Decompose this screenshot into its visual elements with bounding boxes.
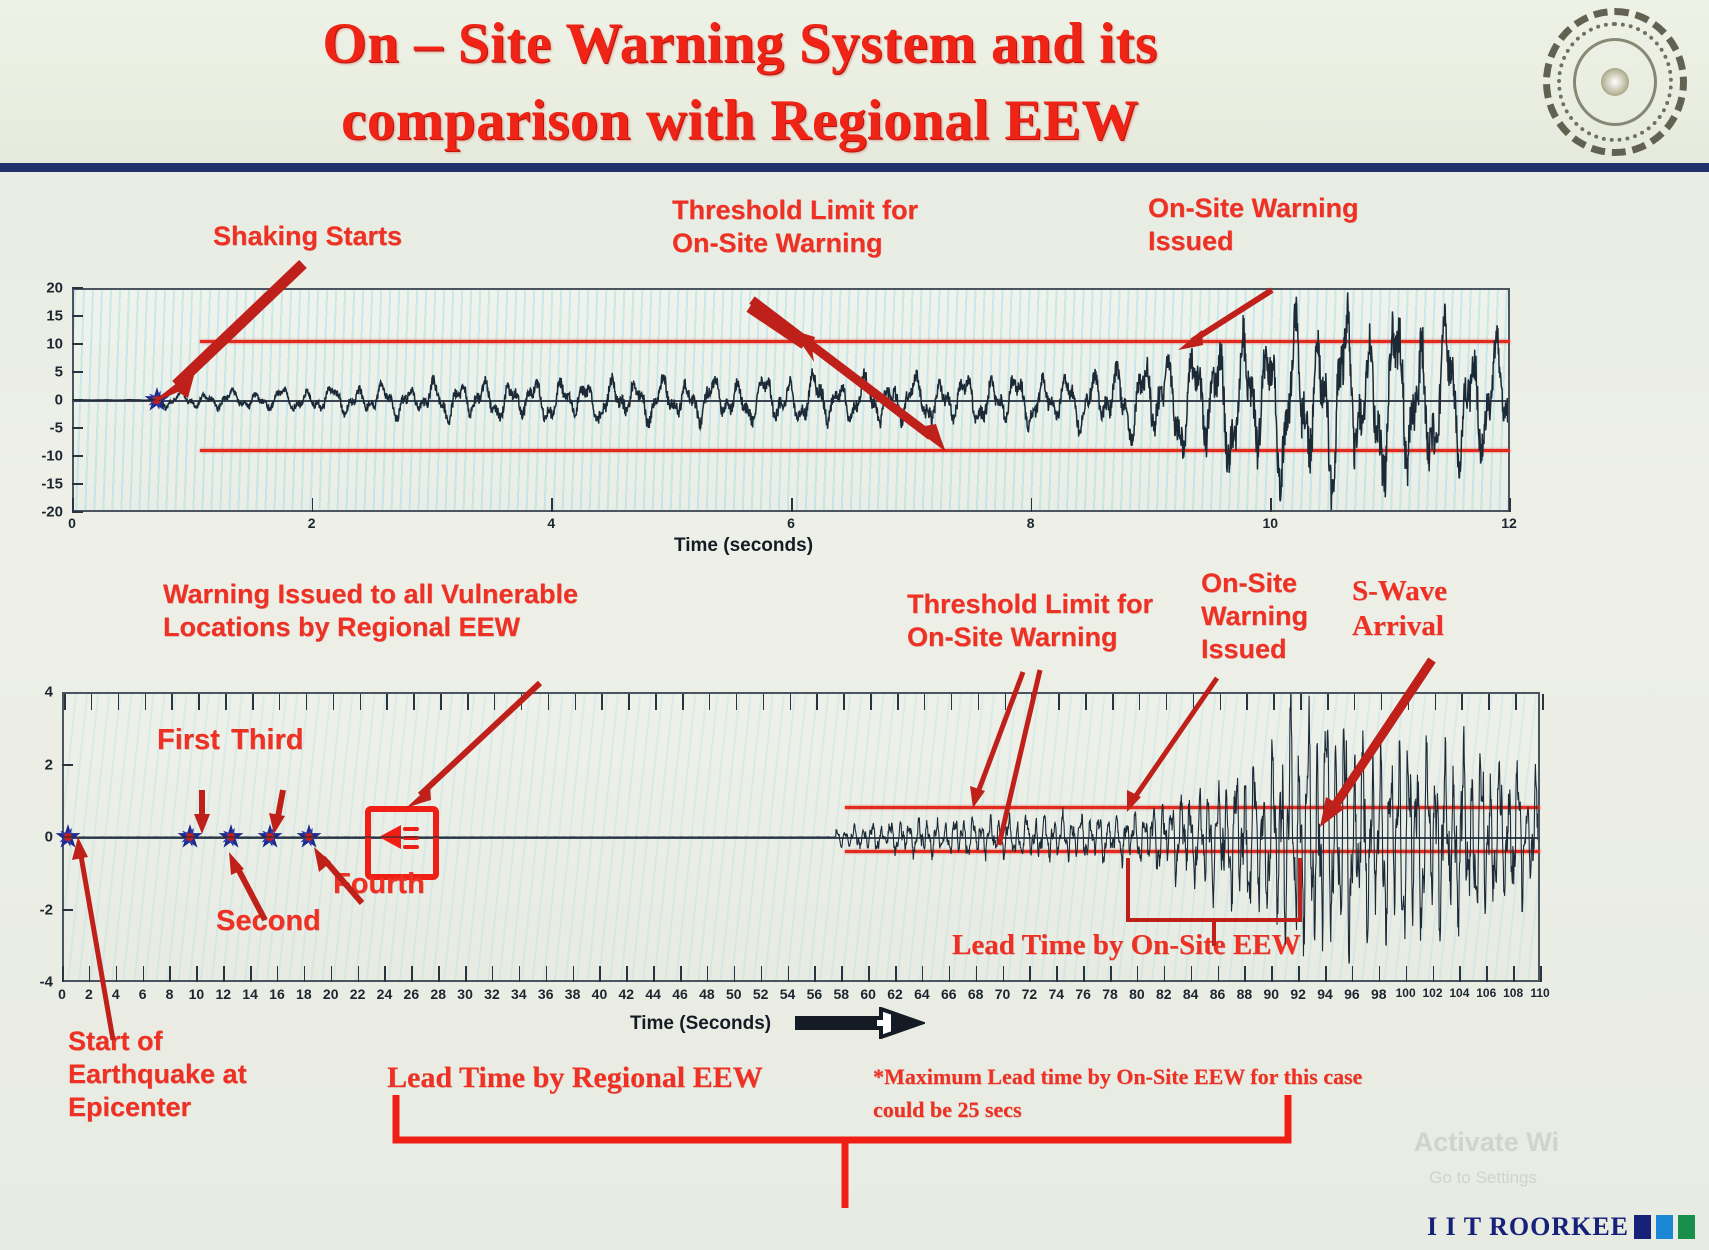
x-tick-mark-top: [1381, 694, 1383, 710]
annotation-start-of-earthquake: Start of Earthquake at Epicenter: [68, 1025, 247, 1124]
x-tick-mark-top: [1220, 694, 1222, 710]
annotation-regional-warning-issued: Warning Issued to all Vulnerable Locatio…: [163, 578, 578, 644]
annotation-lead-time-on-site: Lead Time by On-Site EEW: [952, 928, 1301, 963]
brand-text: I I T ROORKEE: [1427, 1212, 1629, 1242]
x-tick-mark: [1540, 966, 1542, 982]
x-tick-label: 12: [215, 986, 231, 1002]
x-tick-mark: [1137, 966, 1139, 982]
x-tick-mark: [196, 966, 198, 982]
x-tick-label: 88: [1237, 986, 1253, 1002]
x-tick-label: 106: [1476, 986, 1496, 1000]
x-tick-mark-top: [655, 694, 657, 710]
upper-chart-panel: 20 15 10 5 0 -5 -10 -15 -20 0 2 4 6: [0, 180, 1709, 570]
x-tick-mark: [1164, 966, 1166, 982]
upper-zero-line: [72, 400, 1510, 402]
x-tick-mark-top: [1193, 694, 1195, 710]
x-tick-mark: [1459, 966, 1461, 982]
x-tick-label: 10: [1263, 515, 1279, 531]
x-tick-label: 6: [787, 515, 795, 531]
x-tick-mark-top: [1408, 694, 1410, 710]
x-tick-label: 72: [1022, 986, 1038, 1002]
x-tick-label: 68: [968, 986, 984, 1002]
x-tick-mark-top: [521, 694, 523, 710]
x-tick-label: 16: [269, 986, 285, 1002]
x-tick-label: 110: [1530, 986, 1549, 1000]
x-tick-mark: [1083, 966, 1085, 982]
x-tick-mark-top: [91, 694, 93, 710]
x-tick-mark: [1406, 966, 1408, 982]
x-tick-mark-top: [1005, 694, 1007, 710]
x-tick-mark-top: [1166, 694, 1168, 710]
third-warning-marker: [257, 824, 283, 850]
x-tick-label: 12: [1501, 515, 1517, 531]
page-title-line-1: On – Site Warning System and its: [150, 6, 1330, 83]
x-tick-mark-top: [763, 694, 765, 710]
x-tick-mark: [895, 966, 897, 982]
x-tick-label: 92: [1290, 986, 1306, 1002]
x-tick-mark-top: [494, 694, 496, 710]
x-tick-label: 28: [430, 986, 446, 1002]
x-tick-mark: [1325, 966, 1327, 982]
x-tick-mark-top: [279, 694, 281, 710]
page-title: On – Site Warning System and its compari…: [150, 6, 1330, 160]
x-tick-mark-top: [682, 694, 684, 710]
upper-x-axis-label: Time (seconds): [674, 535, 813, 557]
x-tick-mark-top: [870, 694, 872, 710]
x-tick-label: 70: [995, 986, 1011, 1002]
x-tick-label: 76: [1075, 986, 1091, 1002]
annotation-third: Third: [231, 723, 304, 758]
x-tick-mark: [1433, 966, 1435, 982]
x-tick-label: 104: [1449, 986, 1469, 1000]
annotation-lower-threshold-limit: Threshold Limit for On-Site Warning: [907, 588, 1153, 654]
x-tick-mark-top: [333, 694, 335, 710]
x-tick-mark-top: [225, 694, 227, 710]
x-tick-label: 4: [112, 986, 120, 1002]
x-tick-label: 0: [58, 986, 66, 1002]
y-tick-label: 2: [45, 756, 62, 773]
x-tick-label: 94: [1317, 986, 1333, 1002]
x-tick-mark: [1003, 966, 1005, 982]
shaking-starts-marker: [144, 387, 170, 413]
x-tick-mark: [680, 966, 682, 982]
x-tick-mark-top: [306, 694, 308, 710]
x-tick-mark: [734, 966, 736, 982]
x-tick-mark: [1513, 966, 1515, 982]
x-tick-mark-top: [1327, 694, 1329, 710]
x-tick-label: 48: [699, 986, 715, 1002]
x-tick-mark: [411, 966, 413, 982]
x-tick-label: 98: [1371, 986, 1387, 1002]
x-tick-mark: [143, 966, 145, 982]
x-tick-label: 102: [1422, 986, 1442, 1000]
y-tick-label: 4: [45, 684, 62, 701]
x-tick-label: 100: [1396, 986, 1416, 1000]
x-tick-label: 46: [672, 986, 688, 1002]
iit-roorkee-seal-icon: [1543, 8, 1687, 156]
iit-roorkee-footer-brand: I I T ROORKEE: [1427, 1212, 1695, 1242]
x-tick-mark: [1298, 966, 1300, 982]
x-tick-mark-top: [171, 694, 173, 710]
x-tick-label: 0: [68, 515, 76, 531]
x-tick-mark: [89, 966, 91, 982]
x-tick-label: 62: [887, 986, 903, 1002]
x-tick-mark: [976, 966, 978, 982]
x-tick-mark-top: [1542, 694, 1544, 710]
y-tick-label: 0: [55, 392, 72, 409]
x-tick-mark-top: [1300, 694, 1302, 710]
x-tick-mark-top: [548, 694, 550, 710]
x-tick-label: 52: [753, 986, 769, 1002]
x-tick-mark-top: [360, 694, 362, 710]
x-tick-mark-top: [601, 694, 603, 710]
x-tick-label: 66: [941, 986, 957, 1002]
annotation-threshold-limit: Threshold Limit for On-Site Warning: [672, 194, 918, 260]
x-tick-label: 40: [592, 986, 608, 1002]
x-tick-label: 20: [323, 986, 339, 1002]
lower-x-axis-label: Time (Seconds): [630, 1013, 771, 1035]
page-title-line-2: comparison with Regional EEW: [150, 83, 1330, 160]
x-tick-mark: [788, 966, 790, 982]
x-tick-label: 54: [780, 986, 796, 1002]
x-tick-mark-top: [413, 694, 415, 710]
fourth-warning-marker: [296, 824, 322, 850]
x-tick-mark-top: [1435, 694, 1437, 710]
x-tick-mark-top: [1031, 694, 1033, 710]
x-tick-mark-top: [1085, 694, 1087, 710]
x-tick-label: 36: [538, 986, 554, 1002]
upper-threshold-line-negative: [200, 449, 1510, 452]
slide-canvas: On – Site Warning System and its compari…: [0, 0, 1709, 1250]
x-tick-label: 10: [189, 986, 205, 1002]
annotation-shaking-starts: Shaking Starts: [213, 220, 402, 253]
x-tick-mark-top: [1354, 694, 1356, 710]
x-tick-mark-top: [1273, 694, 1275, 710]
x-tick-mark-top: [790, 694, 792, 710]
x-tick-mark: [250, 966, 252, 982]
x-tick-label: 60: [860, 986, 876, 1002]
x-tick-mark-top: [1058, 694, 1060, 710]
y-tick-label: -10: [41, 448, 72, 465]
x-tick-label: 64: [914, 986, 930, 1002]
x-tick-mark-top: [709, 694, 711, 710]
y-tick-label: -5: [50, 420, 72, 437]
x-tick-label: 42: [619, 986, 635, 1002]
x-tick-label: 58: [834, 986, 850, 1002]
brand-square-green: [1678, 1215, 1695, 1239]
x-tick-mark: [653, 966, 655, 982]
annotation-lead-time-regional: Lead Time by Regional EEW: [387, 1060, 763, 1097]
second-warning-marker: [218, 824, 244, 850]
y-tick-label: 20: [46, 280, 72, 297]
brand-square-navy: [1634, 1215, 1651, 1239]
x-tick-mark: [761, 966, 763, 982]
x-tick-label: 2: [308, 515, 316, 531]
x-tick-mark-top: [575, 694, 577, 710]
x-tick-mark-top: [440, 694, 442, 710]
x-tick-mark: [62, 966, 64, 982]
x-tick-mark: [304, 966, 306, 982]
annotation-lower-warning-issued: On-Site Warning Issued: [1201, 567, 1308, 666]
x-tick-mark-top: [1246, 694, 1248, 710]
x-tick-label: 6: [139, 986, 147, 1002]
x-tick-mark-top: [1515, 694, 1517, 710]
lower-threshold-line-negative: [845, 850, 1540, 853]
x-tick-mark: [331, 966, 333, 982]
x-tick-mark: [707, 966, 709, 982]
slide-header: On – Site Warning System and its compari…: [0, 0, 1709, 172]
x-tick-mark-top: [198, 694, 200, 710]
windows-activation-watermark-line-2: Go to Settings: [1429, 1168, 1537, 1188]
x-tick-mark: [949, 966, 951, 982]
x-tick-label: 90: [1263, 986, 1279, 1002]
x-tick-label: 56: [807, 986, 823, 1002]
x-tick-mark: [1379, 966, 1381, 982]
annotation-on-site-warning-issued: On-Site Warning Issued: [1148, 192, 1359, 258]
x-tick-mark: [169, 966, 171, 982]
x-tick-mark: [599, 966, 601, 982]
x-tick-mark: [1271, 966, 1273, 982]
time-direction-arrow-icon: [795, 1007, 925, 1039]
x-tick-label: 22: [350, 986, 366, 1002]
x-tick-mark: [1486, 966, 1488, 982]
x-tick-mark-top: [628, 694, 630, 710]
x-tick-label: 26: [404, 986, 420, 1002]
x-tick-mark: [546, 966, 548, 982]
x-tick-label: 80: [1129, 986, 1145, 1002]
upper-threshold-line-positive: [200, 340, 1510, 343]
first-warning-marker: [177, 824, 203, 850]
x-tick-label: 38: [565, 986, 581, 1002]
x-tick-mark-top: [118, 694, 120, 710]
x-tick-mark: [1056, 966, 1058, 982]
x-tick-label: 82: [1156, 986, 1172, 1002]
x-tick-mark-top: [736, 694, 738, 710]
x-tick-mark: [492, 966, 494, 982]
y-tick-label: 5: [55, 364, 72, 381]
x-tick-mark: [868, 966, 870, 982]
x-tick-label: 34: [511, 986, 527, 1002]
x-tick-mark-top: [816, 694, 818, 710]
x-tick-label: 8: [166, 986, 174, 1002]
x-tick-mark: [116, 966, 118, 982]
x-tick-label: 30: [457, 986, 473, 1002]
x-tick-mark-top: [1139, 694, 1141, 710]
x-tick-mark: [223, 966, 225, 982]
lower-zero-line: [62, 837, 1540, 839]
x-tick-label: 50: [726, 986, 742, 1002]
x-tick-mark: [277, 966, 279, 982]
start-of-earthquake-marker: [55, 824, 81, 850]
x-tick-mark: [1244, 966, 1246, 982]
x-tick-label: 108: [1503, 986, 1523, 1000]
x-tick-mark-top: [951, 694, 953, 710]
x-tick-mark: [1218, 966, 1220, 982]
x-tick-label: 4: [547, 515, 555, 531]
x-tick-mark: [465, 966, 467, 982]
x-tick-label: 78: [1102, 986, 1118, 1002]
x-tick-label: 8: [1027, 515, 1035, 531]
x-tick-label: 14: [242, 986, 258, 1002]
annotation-first: First: [157, 723, 220, 758]
x-tick-mark-top: [252, 694, 254, 710]
x-tick-mark: [841, 966, 843, 982]
x-tick-label: 2: [85, 986, 93, 1002]
x-tick-mark-top: [145, 694, 147, 710]
annotation-s-wave-arrival: S-Wave Arrival: [1352, 574, 1447, 645]
x-tick-mark-top: [843, 694, 845, 710]
annotation-footnote-max-lead-time: *Maximum Lead time by On-Site EEW for th…: [873, 1060, 1362, 1126]
x-tick-label: 18: [296, 986, 312, 1002]
windows-activation-watermark-line-1: Activate Wi: [1414, 1127, 1559, 1158]
y-tick-label: -2: [40, 901, 62, 918]
x-tick-mark-top: [467, 694, 469, 710]
x-tick-mark: [1352, 966, 1354, 982]
x-tick-mark-top: [1488, 694, 1490, 710]
x-tick-mark: [573, 966, 575, 982]
y-tick-label: 15: [46, 308, 72, 325]
annotation-second: Second: [216, 904, 321, 939]
x-tick-label: 74: [1048, 986, 1064, 1002]
x-tick-mark: [1110, 966, 1112, 982]
x-tick-mark-top: [897, 694, 899, 710]
x-tick-mark-top: [1112, 694, 1114, 710]
x-tick-label: 86: [1210, 986, 1226, 1002]
x-tick-mark: [1029, 966, 1031, 982]
x-tick-label: 84: [1183, 986, 1199, 1002]
x-tick-mark: [922, 966, 924, 982]
x-tick-mark-top: [924, 694, 926, 710]
x-tick-label: 24: [377, 986, 393, 1002]
x-tick-mark-top: [386, 694, 388, 710]
x-tick-mark: [384, 966, 386, 982]
y-tick-label: 10: [46, 336, 72, 353]
x-tick-mark-top: [64, 694, 66, 710]
x-tick-label: 44: [645, 986, 661, 1002]
y-tick-label: -15: [41, 476, 72, 493]
x-tick-label: 96: [1344, 986, 1360, 1002]
x-tick-mark: [1191, 966, 1193, 982]
lower-threshold-line-positive: [845, 806, 1540, 809]
x-tick-mark: [438, 966, 440, 982]
x-tick-mark-top: [978, 694, 980, 710]
x-tick-mark-top: [1461, 694, 1463, 710]
lower-chart-panel: 4 2 0 -2 -4 0246810121416182022242628303…: [0, 570, 1709, 1130]
x-tick-mark: [814, 966, 816, 982]
brand-square-blue: [1656, 1215, 1673, 1239]
x-tick-label: 32: [484, 986, 500, 1002]
x-tick-mark: [519, 966, 521, 982]
x-tick-mark: [358, 966, 360, 982]
x-tick-mark: [626, 966, 628, 982]
annotation-fourth: Fourth: [333, 867, 425, 902]
